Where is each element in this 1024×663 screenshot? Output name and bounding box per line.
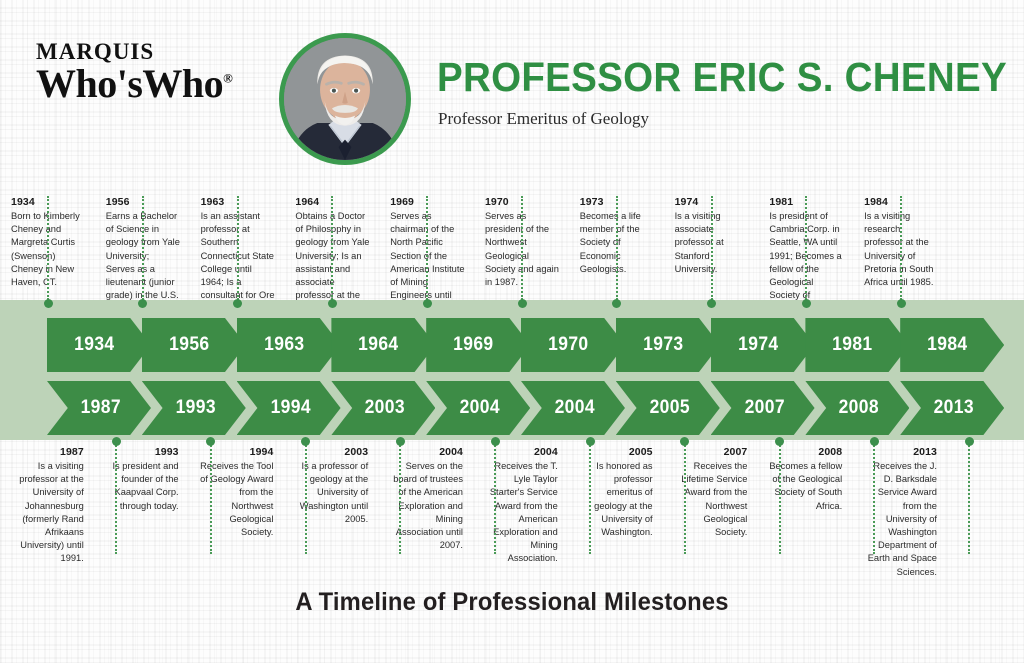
divider-top-7 <box>711 196 713 300</box>
milestone-bottom-6: 2005Is honored as professor emeritus of … <box>569 446 664 556</box>
timeline-arrow-top-8[interactable]: 1981 <box>805 318 909 372</box>
divider-dot-top-8 <box>802 299 811 308</box>
milestone-bottom-3: 2003Is a professor of geology at the Uni… <box>284 446 379 556</box>
timeline-arrow-top-2[interactable]: 1963 <box>237 318 341 372</box>
timeline-arrow-year: 2004 <box>555 397 595 419</box>
timeline-arrow-year: 1993 <box>175 397 215 419</box>
milestone-bottom-9: 2013Receives the J. D. Barksdale Service… <box>853 446 948 556</box>
divider-top-1 <box>142 196 144 300</box>
timeline-arrow-bottom-1[interactable]: 1993 <box>142 381 246 435</box>
timeline-arrows-top: 1934195619631964196919701973197419811984 <box>0 318 1024 372</box>
divider-dot-bottom-5 <box>586 437 595 446</box>
timeline-arrow-top-9[interactable]: 1984 <box>900 318 1004 372</box>
divider-top-5 <box>521 196 523 300</box>
timeline-arrow-year: 1956 <box>169 334 209 356</box>
timeline-arrow-top-5[interactable]: 1970 <box>521 318 625 372</box>
timeline-arrow-year: 2008 <box>839 397 879 419</box>
milestone-text: Is a visiting professor at the Universit… <box>9 460 84 566</box>
logo-whoswho-word: Who'sWho <box>36 61 223 106</box>
divider-top-8 <box>805 196 807 300</box>
portrait-photo <box>284 38 406 160</box>
milestone-bottom-7: 2007Receives the Lifetime Service Award … <box>664 446 759 556</box>
timeline-arrow-year: 1987 <box>81 397 121 419</box>
timeline-arrow-bottom-9[interactable]: 2013 <box>900 381 1004 435</box>
timeline-arrow-top-1[interactable]: 1956 <box>142 318 246 372</box>
divider-bottom-1 <box>210 442 212 554</box>
timeline-arrow-bottom-6[interactable]: 2005 <box>616 381 720 435</box>
timeline-arrow-year: 2005 <box>649 397 689 419</box>
logo-whoswho-text: Who'sWho® <box>36 64 256 105</box>
avatar <box>279 33 411 165</box>
divider-bottom-6 <box>684 442 686 554</box>
logo-marquis-text: MARQUIS <box>36 40 256 63</box>
infographic-page: MARQUIS Who'sWho® <box>0 0 1024 663</box>
divider-bottom-0 <box>115 442 117 554</box>
divider-top-2 <box>237 196 239 300</box>
timeline-arrow-year: 1934 <box>74 334 114 356</box>
divider-top-4 <box>426 196 428 300</box>
page-subtitle: Professor Emeritus of Geology <box>438 109 997 129</box>
timeline-arrow-bottom-3[interactable]: 2003 <box>331 381 435 435</box>
top-milestone-notes: 1934Born to Kimberly Cheney and Margreta… <box>0 196 1024 300</box>
divider-top-9 <box>900 196 902 300</box>
timeline-arrow-year: 1969 <box>453 334 493 356</box>
timeline-arrow-year: 2013 <box>934 397 974 419</box>
timeline-arrow-year: 1964 <box>359 334 399 356</box>
milestone-bottom-4: 2004Serves on the board of trustees of t… <box>379 446 474 556</box>
milestone-bottom-2: 1994Receives the Tool of Geology Award f… <box>190 446 285 556</box>
divider-bottom-9 <box>968 442 970 554</box>
timeline-arrow-bottom-0[interactable]: 1987 <box>47 381 151 435</box>
timeline-arrow-bottom-2[interactable]: 1994 <box>237 381 341 435</box>
divider-dot-top-0 <box>44 299 53 308</box>
timeline-arrow-year: 1974 <box>738 334 778 356</box>
milestone-bottom-0: 1987Is a visiting professor at the Unive… <box>0 446 95 556</box>
divider-top-0 <box>47 196 49 300</box>
divider-dot-bottom-2 <box>301 437 310 446</box>
title-block: PROFESSOR ERIC S. CHENEY Professor Emeri… <box>437 56 997 129</box>
timeline-arrow-year: 1963 <box>264 334 304 356</box>
milestone-year: 1987 <box>9 446 84 458</box>
divider-bottom-8 <box>873 442 875 554</box>
timeline-arrow-bottom-4[interactable]: 2004 <box>426 381 530 435</box>
divider-dot-top-9 <box>897 299 906 308</box>
page-title: PROFESSOR ERIC S. CHENEY <box>437 56 963 99</box>
brand-logo: MARQUIS Who'sWho® <box>36 40 256 105</box>
divider-top-6 <box>616 196 618 300</box>
divider-top-3 <box>331 196 333 300</box>
timeline-arrow-bottom-7[interactable]: 2007 <box>711 381 815 435</box>
timeline-arrow-top-3[interactable]: 1964 <box>331 318 435 372</box>
divider-bottom-7 <box>779 442 781 554</box>
milestone-bottom-1: 1993Is president and founder of the Kaap… <box>95 446 190 556</box>
header: MARQUIS Who'sWho® <box>0 0 1024 180</box>
timeline-arrow-top-6[interactable]: 1973 <box>616 318 720 372</box>
timeline-arrow-year: 2003 <box>365 397 405 419</box>
timeline-arrow-year: 2007 <box>744 397 784 419</box>
divider-dot-bottom-3 <box>396 437 405 446</box>
timeline-arrow-year: 1970 <box>548 334 588 356</box>
divider-bottom-3 <box>399 442 401 554</box>
timeline-arrow-bottom-5[interactable]: 2004 <box>521 381 625 435</box>
timeline-arrow-year: 1994 <box>270 397 310 419</box>
timeline-arrows-bottom: 1987199319942003200420042005200720082013 <box>0 381 1024 435</box>
timeline-arrow-year: 1981 <box>833 334 873 356</box>
divider-dot-bottom-0 <box>112 437 121 446</box>
divider-dot-top-4 <box>423 299 432 308</box>
milestone-bottom-8: 2008Becomes a fellow of the Geological S… <box>758 446 853 556</box>
divider-bottom-2 <box>305 442 307 554</box>
footer-title: A Timeline of Professional Milestones <box>26 588 999 617</box>
divider-dot-bottom-4 <box>491 437 500 446</box>
divider-dot-top-5 <box>518 299 527 308</box>
divider-dot-bottom-7 <box>775 437 784 446</box>
timeline-arrow-top-4[interactable]: 1969 <box>426 318 530 372</box>
milestone-bottom-5: 2004Receives the T. Lyle Taylor Starter'… <box>474 446 569 556</box>
divider-dot-bottom-6 <box>680 437 689 446</box>
timeline-arrow-year: 2004 <box>460 397 500 419</box>
timeline-arrow-bottom-8[interactable]: 2008 <box>805 381 909 435</box>
divider-dot-bottom-9 <box>965 437 974 446</box>
divider-dot-bottom-1 <box>206 437 215 446</box>
registered-mark-icon: ® <box>223 71 232 86</box>
divider-dot-top-3 <box>328 299 337 308</box>
divider-dot-bottom-8 <box>870 437 879 446</box>
bottom-milestone-notes: 1987Is a visiting professor at the Unive… <box>0 446 1024 556</box>
timeline-arrow-year: 1973 <box>643 334 683 356</box>
timeline-arrow-top-7[interactable]: 1974 <box>711 318 815 372</box>
timeline-arrow-top-0[interactable]: 1934 <box>47 318 151 372</box>
divider-bottom-5 <box>589 442 591 554</box>
timeline-arrow-year: 1984 <box>927 334 967 356</box>
divider-bottom-4 <box>494 442 496 554</box>
